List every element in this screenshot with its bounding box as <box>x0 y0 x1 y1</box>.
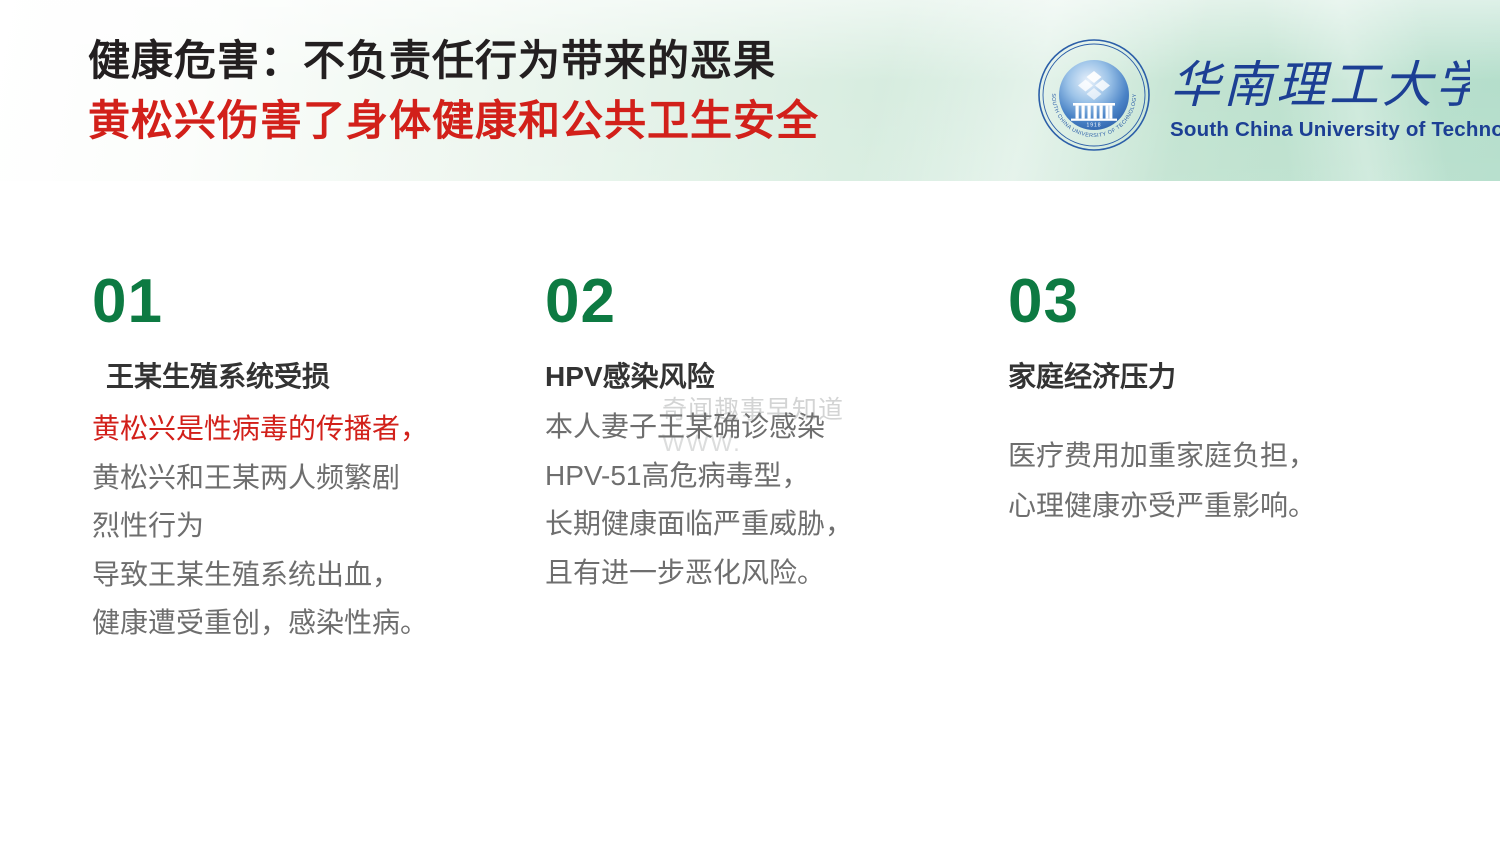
body-line: 长期健康面临严重威胁， <box>545 500 945 548</box>
body-line: 黄松兴是性病毒的传播者， <box>92 405 522 453</box>
column-body: 本人妻子王某确诊感染 HPV-51高危病毒型， 长期健康面临严重威胁， 且有进一… <box>545 403 945 597</box>
body-line: HPV-51高危病毒型， <box>545 452 945 500</box>
university-emblem-icon: 華南理工大學 SOUTH CHINA UNIVERSITY OF TECHNOL… <box>1032 33 1156 157</box>
body-line: 黄松兴和王某两人频繁剧 <box>92 454 522 502</box>
title-primary: 健康危害：不负责任行为带来的恶果 <box>88 34 819 88</box>
body-line: 医疗费用加重家庭负担， <box>1008 431 1428 481</box>
emblem-ring-text-cn: 華南理工大學 <box>1063 33 1126 34</box>
column-body: 黄松兴是性病毒的传播者， 黄松兴和王某两人频繁剧 烈性行为 导致王某生殖系统出血… <box>92 405 522 647</box>
logo-wordmark: 华南理工大学 South China University of Technol… <box>1170 48 1500 142</box>
column-number: 03 <box>1008 271 1428 333</box>
page-title: 健康危害：不负责任行为带来的恶果 黄松兴伤害了身体健康和公共卫生安全 <box>88 34 819 148</box>
slide-root: 健康危害：不负责任行为带来的恶果 黄松兴伤害了身体健康和公共卫生安全 <box>0 0 1500 844</box>
content-columns: 01 王某生殖系统受损 黄松兴是性病毒的传播者， 黄松兴和王某两人频繁剧 烈性行… <box>0 181 1500 844</box>
header-banner: 健康危害：不负责任行为带来的恶果 黄松兴伤害了身体健康和公共卫生安全 <box>0 0 1500 181</box>
svg-text:華南理工大學: 華南理工大學 <box>1063 33 1126 34</box>
column-number: 01 <box>92 271 522 333</box>
logo-english-text: South China University of Technology <box>1170 118 1500 142</box>
logo-chinese-text: 华南理工大学 <box>1170 57 1470 113</box>
body-line: 心理健康亦受严重影响。 <box>1008 481 1428 531</box>
column-heading: HPV感染风险 <box>545 359 945 395</box>
column-heading: 家庭经济压力 <box>1008 359 1428 395</box>
logo-chinese-calligraphy: 华南理工大学 <box>1170 54 1470 116</box>
university-logo: 華南理工大學 SOUTH CHINA UNIVERSITY OF TECHNOL… <box>1032 33 1500 157</box>
emblem-gate-icon <box>1071 103 1117 121</box>
emblem-year: 1918 <box>1086 123 1101 129</box>
title-secondary: 黄松兴伤害了身体健康和公共卫生安全 <box>88 94 819 148</box>
body-line: 本人妻子王某确诊感染 <box>545 403 945 451</box>
column-03: 03 家庭经济压力 医疗费用加重家庭负担， 心理健康亦受严重影响。 <box>1008 271 1428 531</box>
column-body: 医疗费用加重家庭负担， 心理健康亦受严重影响。 <box>1008 431 1428 531</box>
column-number: 02 <box>545 271 945 333</box>
body-line: 导致王某生殖系统出血， <box>92 551 522 599</box>
column-heading: 王某生殖系统受损 <box>106 359 522 395</box>
body-line: 健康遭受重创，感染性病。 <box>92 599 522 647</box>
body-line: 且有进一步恶化风险。 <box>545 549 945 597</box>
column-02: 02 HPV感染风险 本人妻子王某确诊感染 HPV-51高危病毒型， 长期健康面… <box>545 271 945 597</box>
column-01: 01 王某生殖系统受损 黄松兴是性病毒的传播者， 黄松兴和王某两人频繁剧 烈性行… <box>92 271 522 648</box>
body-line: 烈性行为 <box>92 502 522 550</box>
